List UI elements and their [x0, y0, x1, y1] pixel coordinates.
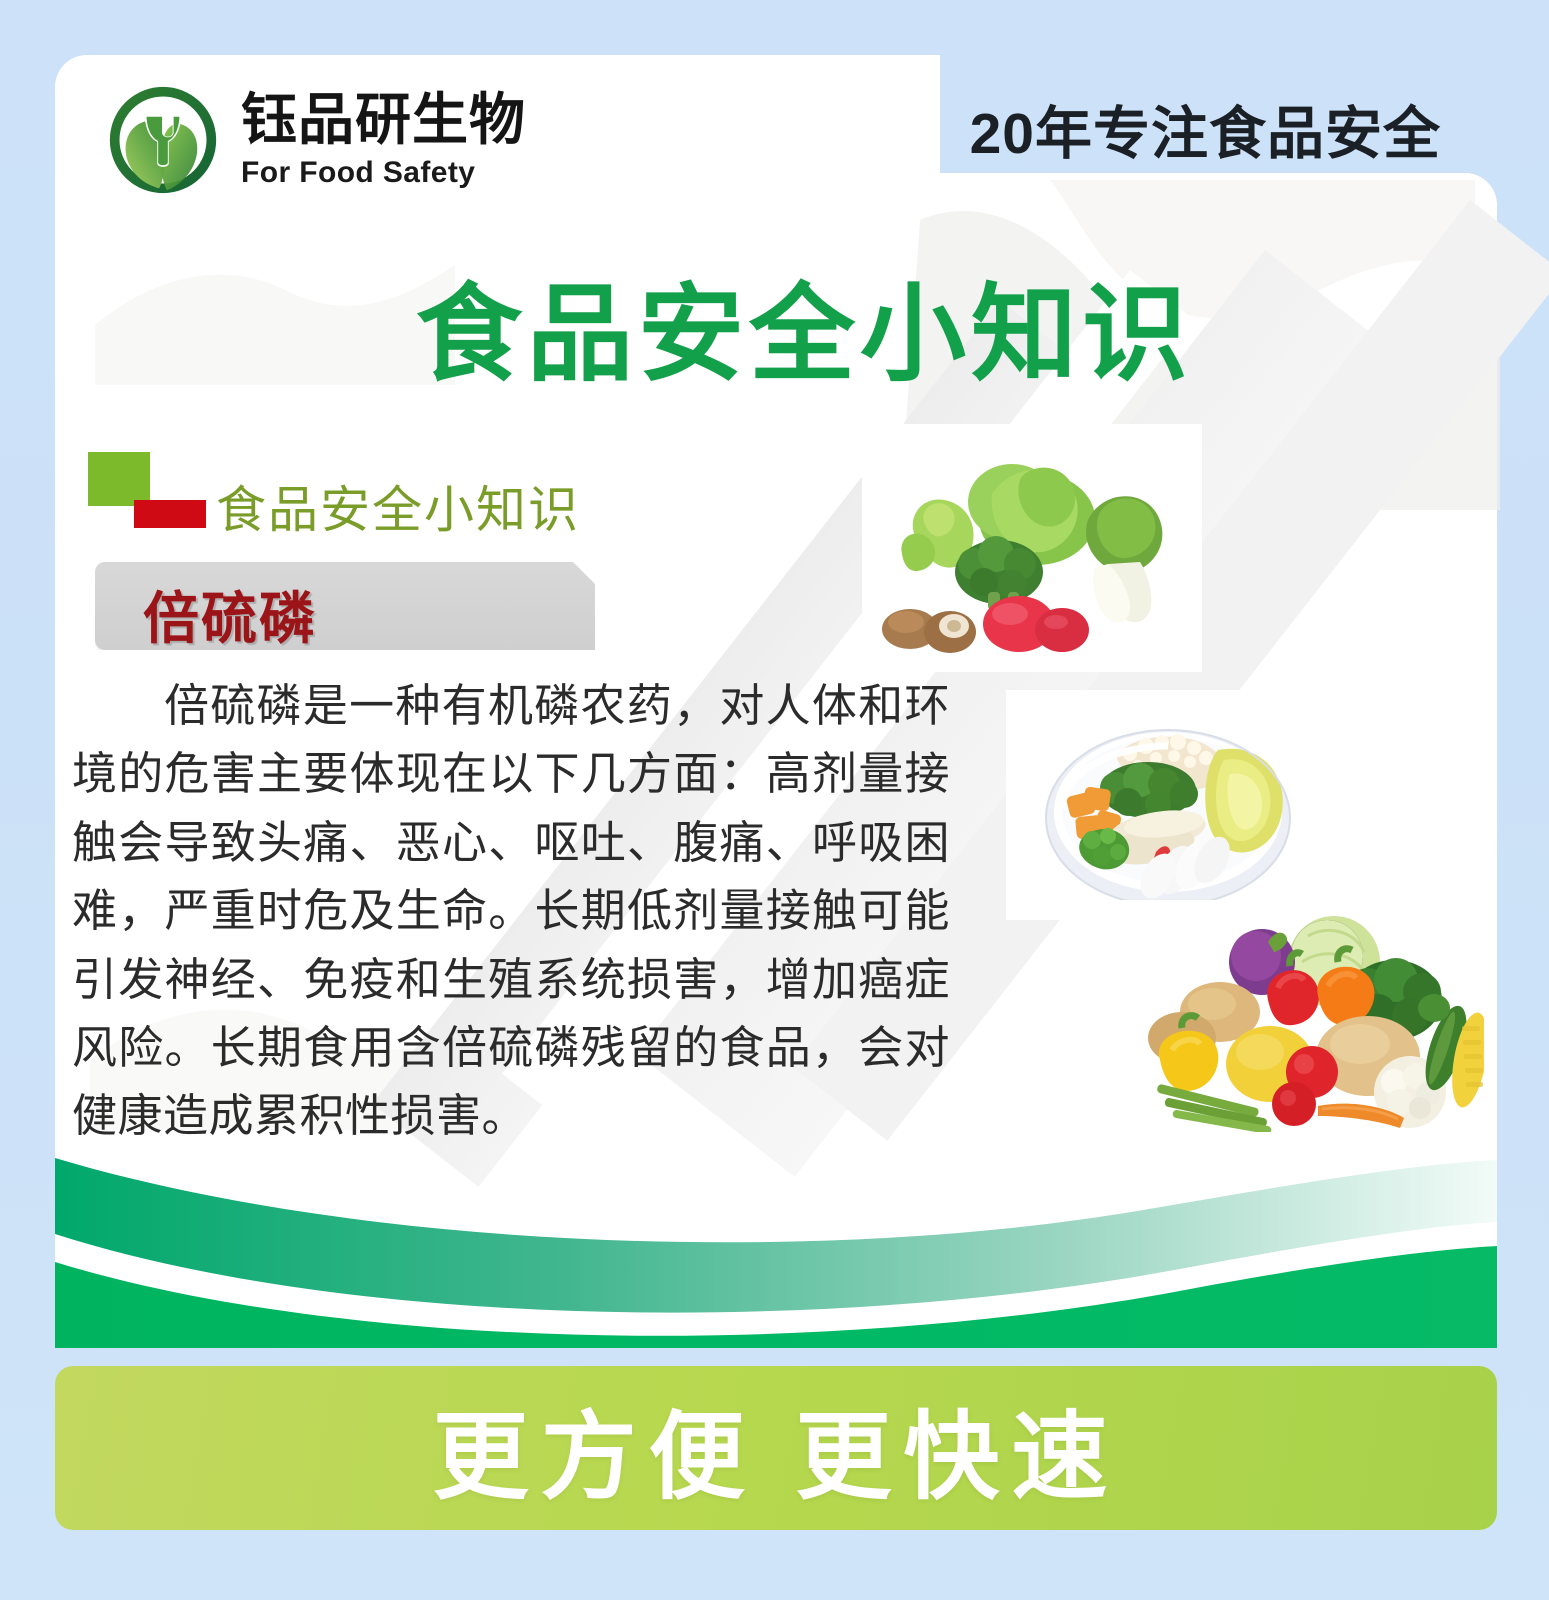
article-body: 倍硫磷是一种有机磷农药，对人体和环境的危害主要体现在以下几方面：高剂量接触会导致… — [72, 672, 950, 1151]
red-bar-icon — [134, 500, 206, 528]
brand-name-cn: 钰品研生物 — [241, 92, 526, 148]
page-title: 食品安全小知识 — [0, 248, 1549, 402]
header-tagline: 20年专注食品安全 — [970, 88, 1441, 170]
section-heading-label: 食品安全小知识 — [216, 470, 580, 542]
vegetable-bowl-photo — [1006, 690, 1324, 920]
leaf-circle-logo-icon — [105, 82, 221, 198]
leafy-vegetables-photo — [862, 424, 1202, 672]
subject-banner-label: 倍硫磷 — [143, 574, 317, 655]
footer-slogan: 更方便 更快速 — [433, 1379, 1120, 1518]
square-marker-group — [88, 452, 208, 527]
brand-name-en: For Food Safety — [241, 158, 526, 188]
footer-banner: 更方便 更快速 — [55, 1366, 1497, 1530]
brand-logo: 钰品研生物 For Food Safety — [105, 82, 526, 198]
poster-root: 20年专注食品安全 — [0, 0, 1549, 1600]
section-heading: 食品安全小知识 — [88, 452, 580, 542]
card-corner-top-right — [1427, 173, 1497, 243]
green-square-icon — [88, 452, 150, 506]
